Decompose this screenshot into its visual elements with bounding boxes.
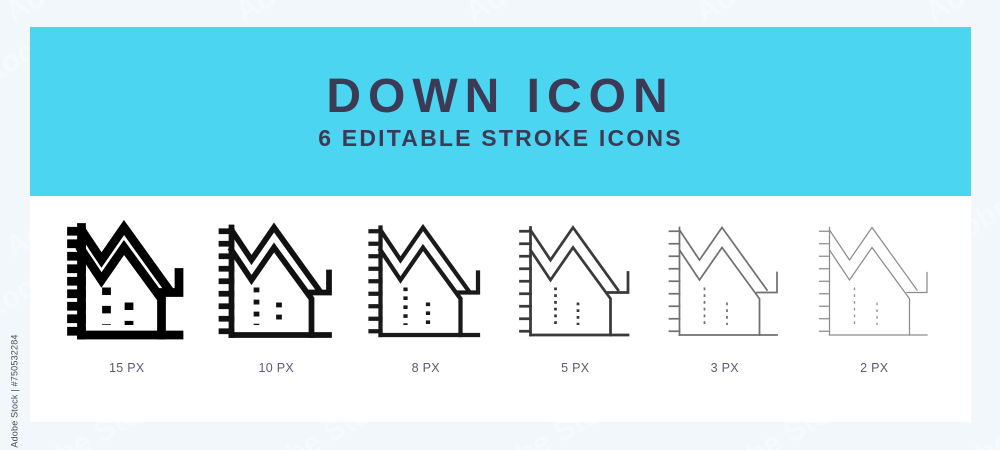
axis-ticks: [520, 231, 530, 331]
lower-trend-outline: [829, 248, 909, 336]
icon-size-label: 15 PX: [109, 361, 145, 375]
page-subtitle: 6 EDITABLE STROKE ICONS: [318, 127, 683, 150]
watermark-text: Adobe Stock: [690, 0, 866, 29]
axis-ticks: [670, 231, 680, 331]
lower-trend-outline: [680, 248, 760, 336]
watermark-text: Adobe Stock: [920, 0, 1000, 29]
watermark-text: Adobe Stock: [460, 0, 636, 29]
upper-trend-line: [829, 228, 917, 291]
adobe-stock-credit-text: Adobe Stock | #750532284: [10, 334, 20, 447]
down-trend-chart-icon[interactable]: [662, 220, 787, 345]
icon-cell[interactable]: 3 PX: [655, 220, 795, 375]
axis-ticks: [819, 231, 829, 331]
icon-row: 15 PX 10 PX 8 PX 5 PX 3 PX 2 PX: [30, 196, 971, 422]
down-trend-chart-icon[interactable]: [513, 220, 638, 345]
down-trend-chart-icon[interactable]: [214, 220, 339, 345]
upper-trend-line: [231, 228, 319, 291]
icon-size-label: 5 PX: [561, 361, 589, 375]
upper-trend-line: [381, 228, 469, 291]
icon-set-card: DOWN ICON 6 EDITABLE STROKE ICONS 15 PX …: [30, 27, 971, 422]
page-title: DOWN ICON: [326, 73, 674, 121]
icon-size-label: 2 PX: [860, 361, 888, 375]
icon-cell[interactable]: 15 PX: [57, 220, 197, 375]
down-trend-chart-icon[interactable]: [64, 220, 189, 345]
watermark-text: Adobe Stock: [230, 0, 406, 29]
icon-showcase: 15 PX 10 PX 8 PX 5 PX 3 PX 2 PX: [30, 196, 971, 422]
upper-trend-line: [530, 228, 618, 291]
adobe-stock-credit: Adobe Stock | #750532284: [0, 0, 30, 450]
icon-cell[interactable]: 2 PX: [804, 220, 944, 375]
icon-size-label: 10 PX: [258, 361, 294, 375]
icon-cell[interactable]: 5 PX: [505, 220, 645, 375]
icon-cell[interactable]: 8 PX: [356, 220, 496, 375]
icon-size-label: 8 PX: [412, 361, 440, 375]
icon-size-label: 3 PX: [711, 361, 739, 375]
upper-trend-line: [82, 228, 170, 291]
banner: DOWN ICON 6 EDITABLE STROKE ICONS: [30, 27, 971, 196]
down-trend-chart-icon[interactable]: [812, 220, 937, 345]
icon-cell[interactable]: 10 PX: [206, 220, 346, 375]
down-trend-chart-icon[interactable]: [363, 220, 488, 345]
upper-trend-line: [680, 228, 768, 291]
